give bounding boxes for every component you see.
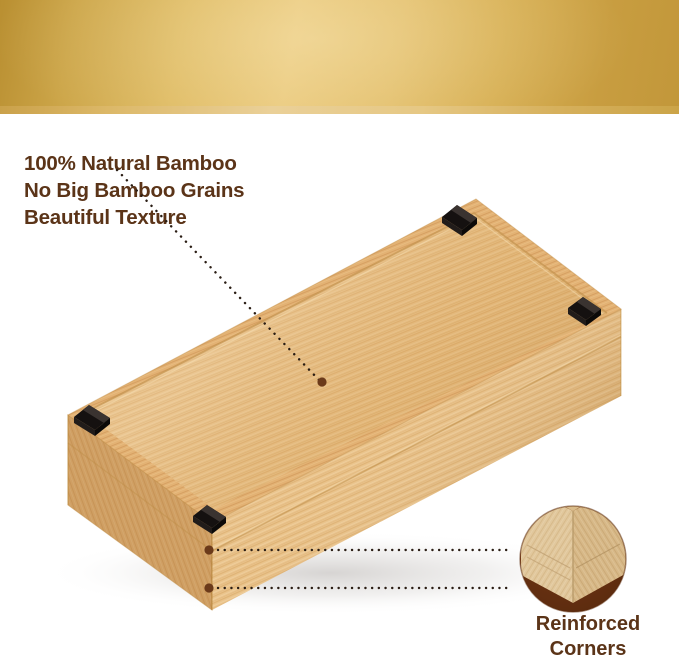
reinforced-corners-line-2: Corners [490,637,679,662]
reinforced-corners-caption: Reinforced Corners [490,612,679,662]
banner-bottom-edge [0,106,679,114]
corner-leader-dot-upper [204,545,213,554]
banner-sheen [0,0,679,113]
product-feature-image: Solid Construction - Durable Each Box Co… [0,0,679,662]
reinforced-corners-line-1: Reinforced [490,612,679,637]
material-leader-dot [317,377,326,386]
reinforced-corner-inset [520,478,627,619]
product-photo [0,113,679,662]
header-banner [0,0,679,113]
corner-leader-dot-lower [204,583,213,592]
